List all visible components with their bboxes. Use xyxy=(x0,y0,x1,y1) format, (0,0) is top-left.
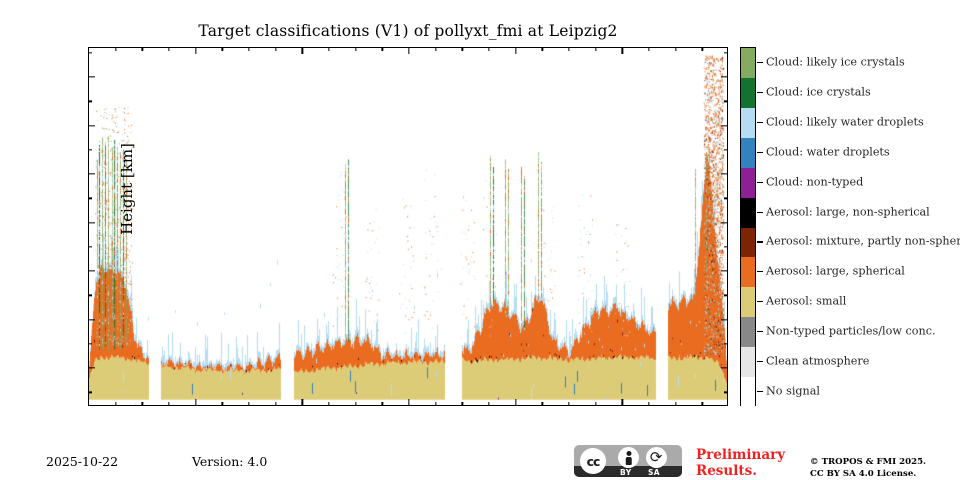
x-minor-tick-top xyxy=(142,48,143,51)
x-minor-tick-top xyxy=(488,48,489,51)
x-minor-tick-top xyxy=(168,48,169,51)
legend-entry-label: Cloud: ice crystals xyxy=(766,85,871,98)
x-tick-mark-top xyxy=(302,48,303,54)
x-minor-tick xyxy=(595,402,596,405)
colorbar-tick xyxy=(757,301,763,302)
copyright-line-1: © TROPOS & FMI 2025. xyxy=(810,456,926,468)
y-tick-mark-right xyxy=(721,125,727,126)
x-tick-mark xyxy=(302,399,303,405)
y-minor-tick xyxy=(89,343,92,344)
colorbar-tick xyxy=(757,92,763,93)
copyright-line-2: CC BY SA 4.0 License. xyxy=(810,468,926,480)
y-tick-mark xyxy=(89,319,95,320)
x-minor-tick xyxy=(568,402,569,405)
cc-logo-text: cc xyxy=(587,454,600,469)
x-minor-tick-top xyxy=(595,48,596,51)
chart-title: Target classifications (V1) of pollyxt_f… xyxy=(0,22,816,40)
x-tick-mark-top xyxy=(622,48,623,54)
colorbar-tick xyxy=(757,212,763,213)
legend-entry-label: No signal xyxy=(766,385,820,398)
colorbar-segment xyxy=(741,198,755,229)
y-minor-tick xyxy=(89,101,92,102)
y-tick-mark xyxy=(89,271,95,272)
cc-by-caption: BY xyxy=(620,468,632,477)
y-minor-tick xyxy=(89,149,92,150)
cc-sa-share-icon: ⟲ xyxy=(646,447,667,468)
legend-entry-label: Aerosol: mixture, partly non-spherical xyxy=(766,235,960,248)
x-minor-tick-top xyxy=(462,48,463,51)
colorbar-tick xyxy=(757,391,763,392)
y-minor-tick-right xyxy=(724,149,727,150)
x-minor-tick xyxy=(275,402,276,405)
person-head-shape xyxy=(626,451,631,456)
x-minor-tick xyxy=(328,402,329,405)
x-minor-tick xyxy=(488,402,489,405)
colorbar-tick xyxy=(757,271,763,272)
y-minor-tick xyxy=(89,52,92,53)
x-minor-tick xyxy=(435,402,436,405)
x-tick-mark-top xyxy=(515,48,516,54)
x-minor-tick-top xyxy=(275,48,276,51)
y-minor-tick xyxy=(89,295,92,296)
y-minor-tick-right xyxy=(724,198,727,199)
y-minor-tick-right xyxy=(724,392,727,393)
x-minor-tick xyxy=(462,402,463,405)
preliminary-line-1: Preliminary xyxy=(696,448,796,464)
x-minor-tick xyxy=(648,402,649,405)
colorbar-segment xyxy=(741,168,755,199)
y-minor-tick-right xyxy=(724,101,727,102)
x-minor-tick-top xyxy=(222,48,223,51)
y-tick-mark xyxy=(89,125,95,126)
x-minor-tick xyxy=(142,402,143,405)
x-minor-tick xyxy=(675,402,676,405)
plot-axes: Height [km]Time [UTC]246810121404:0008:0… xyxy=(88,47,728,406)
colorbar-segment xyxy=(741,48,755,79)
x-minor-tick xyxy=(702,402,703,405)
legend-entry-label: Aerosol: small xyxy=(766,295,846,308)
x-minor-tick xyxy=(222,402,223,405)
x-minor-tick-top xyxy=(702,48,703,51)
colorbar-tick xyxy=(757,361,763,362)
x-tick-label: 08:00 xyxy=(283,405,322,406)
x-tick-label: 16:00 xyxy=(496,405,535,406)
footer-date: 2025-10-22 xyxy=(46,454,118,469)
person-torso-shape xyxy=(625,457,632,465)
colorbar-tick xyxy=(757,62,763,63)
x-minor-tick-top xyxy=(675,48,676,51)
colorbar-tick xyxy=(757,182,763,183)
x-tick-label: 12:00 xyxy=(390,405,429,406)
colorbar-segment xyxy=(741,108,755,139)
x-minor-tick-top xyxy=(355,48,356,51)
legend-entry-label: Non-typed particles/low conc. xyxy=(766,325,936,338)
y-minor-tick xyxy=(89,392,92,393)
y-tick-mark-right xyxy=(721,173,727,174)
x-minor-tick-top xyxy=(115,48,116,51)
colorbar-segment xyxy=(741,78,755,109)
legend-entry-label: Cloud: non-typed xyxy=(766,175,863,188)
plot-area xyxy=(89,48,727,405)
x-minor-tick-top xyxy=(542,48,543,51)
colorbar-segment xyxy=(741,377,755,408)
copyright-note: © TROPOS & FMI 2025. CC BY SA 4.0 Licens… xyxy=(810,456,926,480)
x-minor-tick-top xyxy=(328,48,329,51)
colorbar-segment xyxy=(741,347,755,378)
share-arrow-glyph: ⟲ xyxy=(650,450,663,465)
x-minor-tick-top xyxy=(568,48,569,51)
colorbar-segment xyxy=(741,317,755,348)
legend-entry-label: Aerosol: large, non-spherical xyxy=(766,205,930,218)
x-minor-tick xyxy=(248,402,249,405)
cc-sa-caption: SA xyxy=(648,468,660,477)
y-tick-mark-right xyxy=(721,222,727,223)
colorbar xyxy=(740,47,756,406)
x-minor-tick-top xyxy=(435,48,436,51)
x-minor-tick xyxy=(382,402,383,405)
colorbar-tick xyxy=(757,122,763,123)
x-tick-mark-top xyxy=(408,48,409,54)
x-minor-tick xyxy=(168,402,169,405)
y-tick-mark-right xyxy=(721,271,727,272)
legend-entry-label: Cloud: likely water droplets xyxy=(766,115,924,128)
y-minor-tick-right xyxy=(724,246,727,247)
colorbar-segment xyxy=(741,257,755,288)
colorbar-tick xyxy=(757,152,763,153)
preliminary-line-2: Results. xyxy=(696,464,796,480)
x-tick-label: 04:00 xyxy=(176,405,215,406)
x-minor-tick xyxy=(542,402,543,405)
y-minor-tick-right xyxy=(724,343,727,344)
y-minor-tick xyxy=(89,246,92,247)
x-tick-mark xyxy=(515,399,516,405)
x-minor-tick xyxy=(355,402,356,405)
legend-entry-label: Aerosol: large, spherical xyxy=(766,265,905,278)
colorbar-tick xyxy=(757,331,763,332)
y-axis-label: Height [km] xyxy=(118,89,136,289)
legend-entry-label: Cloud: water droplets xyxy=(766,145,890,158)
classification-heatmap xyxy=(89,48,727,405)
x-tick-label: 20:00 xyxy=(603,405,642,406)
y-tick-mark xyxy=(89,222,95,223)
colorbar-segment xyxy=(741,138,755,169)
y-minor-tick-right xyxy=(724,295,727,296)
y-tick-mark-right xyxy=(721,76,727,77)
cc-license-badge: cc ⟲ BY SA xyxy=(574,445,682,477)
legend-entry-label: Cloud: likely ice crystals xyxy=(766,55,905,68)
x-minor-tick xyxy=(115,402,116,405)
y-tick-mark-right xyxy=(721,368,727,369)
x-tick-mark xyxy=(622,399,623,405)
y-tick-mark xyxy=(89,368,95,369)
cc-by-person-icon xyxy=(618,447,639,468)
y-minor-tick xyxy=(89,198,92,199)
legend-entry-label: Clean atmosphere xyxy=(766,355,869,368)
preliminary-results-note: Preliminary Results. xyxy=(696,448,796,480)
figure-root: Target classifications (V1) of pollyxt_f… xyxy=(0,0,960,480)
footer-version: Version: 4.0 xyxy=(192,454,267,469)
x-tick-mark-top xyxy=(195,48,196,54)
x-minor-tick-top xyxy=(248,48,249,51)
y-minor-tick-right xyxy=(724,52,727,53)
y-tick-mark-right xyxy=(721,319,727,320)
colorbar-segment xyxy=(741,228,755,259)
y-tick-mark xyxy=(89,173,95,174)
x-tick-mark xyxy=(408,399,409,405)
x-minor-tick-top xyxy=(382,48,383,51)
cc-logo-icon: cc xyxy=(580,448,606,474)
colorbar-tick xyxy=(757,241,763,242)
x-minor-tick-top xyxy=(648,48,649,51)
colorbar-segment xyxy=(741,287,755,318)
x-tick-mark xyxy=(195,399,196,405)
y-tick-mark xyxy=(89,76,95,77)
